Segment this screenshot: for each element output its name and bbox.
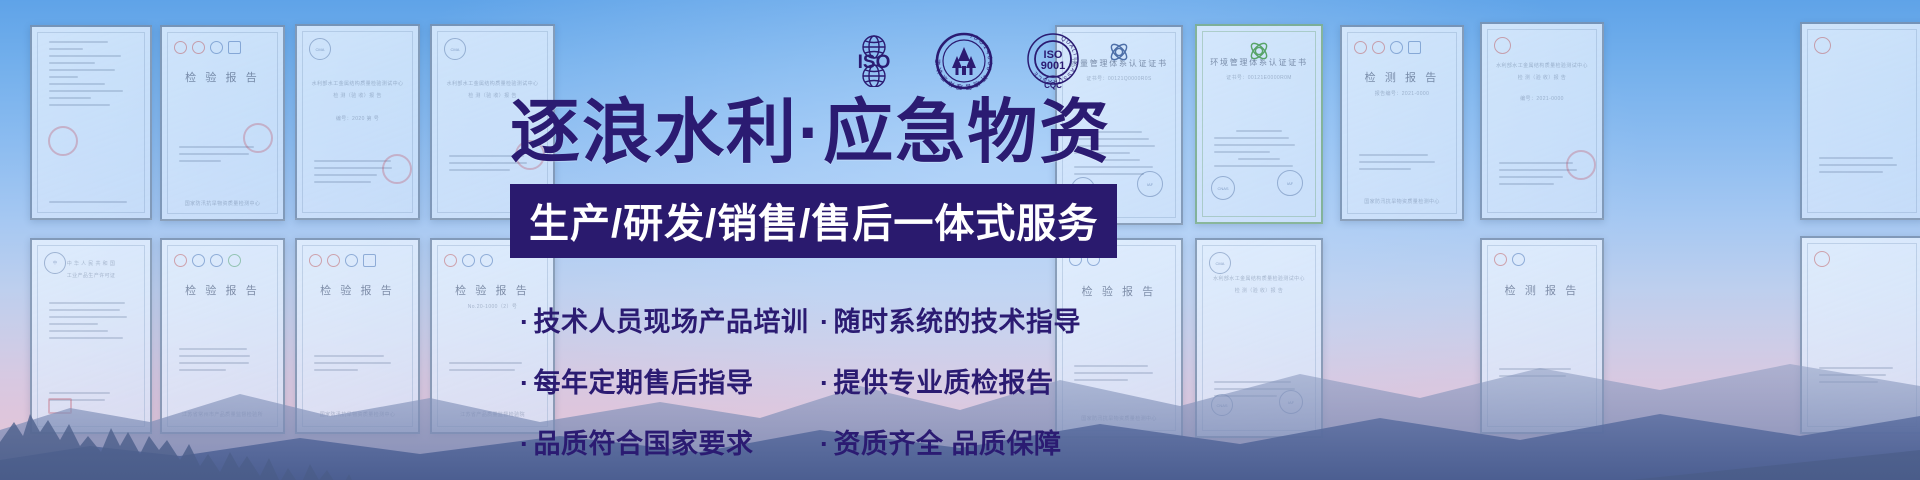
- feature-label: 技术人员现场产品培训: [534, 307, 809, 337]
- iso-globe-badge-label: ISO: [858, 52, 891, 73]
- certificate-seal: [382, 154, 412, 184]
- certificate-card: 水利部水工金属结构质量检验测试中心 检 测（验 收）报 告 编号：2021-00…: [1480, 22, 1604, 220]
- feature-label: 提供专业质检报告: [834, 368, 1054, 398]
- certificate-accreditation-logos: [1494, 253, 1525, 266]
- feature-label: 品质符合国家要求: [534, 429, 754, 459]
- certificate-text-lines: [1214, 130, 1303, 172]
- iso-globe-icon: ISO: [845, 35, 903, 87]
- certificate-issuer: 国家防汛抗旱物资质量检测中心: [162, 200, 283, 207]
- certificate-accreditation-logos: [174, 41, 241, 54]
- certificate-round-mark: CMA: [1209, 252, 1231, 274]
- cqc-label: CQC: [1044, 81, 1062, 90]
- certificate-text-lines: [49, 41, 134, 111]
- certificate-border-inner: [1807, 29, 1917, 213]
- bullet-dot: ·: [520, 307, 530, 337]
- bullet-dot: ·: [820, 429, 830, 459]
- certificate-text-lines: [1359, 154, 1445, 175]
- certificate-card: 检 测 报 告 报告编号：2021-0000 国家防汛抗旱物资质量检测中心: [1340, 25, 1464, 221]
- certificate-footer-lines: [49, 201, 134, 208]
- promo-banner: 检 验 报 告 国家防汛抗旱物资质量检测中心 CMA 水利部水工金属结构质量检验…: [0, 0, 1920, 480]
- certificate-seal: [1566, 150, 1596, 180]
- certificate-round-mark: CMA: [444, 38, 466, 60]
- feature-item: ·品质符合国家要求: [520, 422, 798, 461]
- feature-item: ·提供专业质检报告: [820, 361, 1070, 400]
- certificate-card: [30, 25, 152, 220]
- bullet-dot: ·: [820, 307, 830, 337]
- certificate-border-inner: [1347, 32, 1457, 214]
- certificate-card: 环境管理体系认证证书 证书号：00121E0000R0M CNAS IAF: [1195, 24, 1323, 224]
- feature-item: ·技术人员现场产品培训: [520, 300, 798, 339]
- iso9001-label-bottom: 9001: [1041, 60, 1065, 72]
- certificate-round-mark: CMA: [309, 38, 331, 60]
- bullet-dot: ·: [520, 368, 530, 398]
- headline-block: 逐浪水利·应急物资 生产/研发/销售/售后一体式服务: [510, 96, 1117, 258]
- certificate-issuer: 国家防汛抗旱物资质量检测中心: [1342, 198, 1462, 205]
- subtitle-bar: 生产/研发/销售/售后一体式服务: [510, 184, 1117, 258]
- feature-label: 随时系统的技术指导: [834, 307, 1082, 337]
- atom-icon: [1106, 39, 1132, 65]
- feature-item: ·随时系统的技术指导: [820, 300, 1070, 339]
- bullet-dot: ·: [520, 429, 530, 459]
- certificate-card: CMA 水利部水工金属结构质量检验测试中心 检 测（验 收）报 告 编号：202…: [295, 24, 420, 220]
- atom-icon: [1246, 38, 1272, 64]
- iaf-mark: IAF: [1137, 171, 1163, 197]
- bullet-dot: ·: [820, 368, 830, 398]
- certificate-round-mark: 中: [44, 252, 66, 274]
- cnas-mark: CNAS: [1211, 176, 1235, 200]
- certificate-accreditation-logos: [309, 254, 376, 267]
- certificate-accreditation-logos: [1354, 41, 1421, 54]
- certificate-cma-logo: [1814, 37, 1831, 54]
- iso14000-badge: ISO14000 环境管理体系认证: [935, 32, 993, 95]
- iso9001-cqc-badge: QUALITY ASSURANCE ISO 9001 CQC: [1025, 32, 1081, 95]
- feature-item: ·每年定期售后指导: [520, 361, 798, 400]
- feature-label: 每年定期售后指导: [534, 368, 754, 398]
- iso14000-icon: ISO14000 环境管理体系认证: [935, 32, 993, 90]
- certificate-seal: [48, 126, 78, 156]
- iso-globe-badge: ISO: [845, 35, 903, 92]
- certificate-accreditation-logos: [444, 254, 493, 267]
- certificate-cma-logo: [1494, 37, 1511, 54]
- certificate-card: 检 验 报 告 国家防汛抗旱物资质量检测中心: [160, 25, 285, 221]
- page-title: 逐浪水利·应急物资: [510, 96, 1117, 170]
- feature-list: ·技术人员现场产品培训 ·随时系统的技术指导 ·每年定期售后指导 ·提供专业质检…: [520, 300, 1070, 461]
- feature-item: ·资质齐全 品质保障: [820, 422, 1070, 461]
- iso9001-cqc-icon: QUALITY ASSURANCE ISO 9001 CQC: [1025, 32, 1081, 90]
- certificate-cma-logo: [1814, 251, 1830, 267]
- certificate-accreditation-logos: [174, 254, 241, 267]
- iaf-mark: IAF: [1277, 170, 1303, 196]
- certificate-text-lines: [1819, 157, 1905, 178]
- feature-label: 资质齐全 品质保障: [834, 429, 1062, 459]
- certificate-seal: [243, 123, 273, 153]
- certification-badge-row: ISO ISO14000 环境管理体系认证: [845, 32, 1081, 95]
- certificate-card: [1800, 22, 1920, 220]
